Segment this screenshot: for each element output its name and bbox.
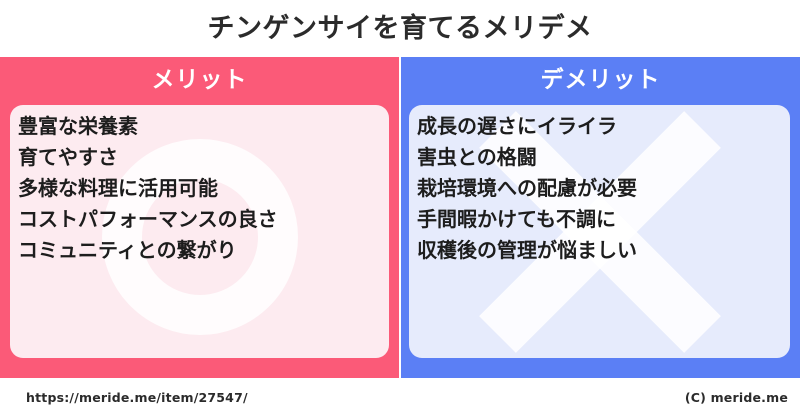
demerit-panel-header: デメリット — [401, 57, 800, 103]
list-item: 栽培環境への配慮が必要 — [417, 173, 782, 204]
source-url[interactable]: https://meride.me/item/27547/ — [26, 390, 248, 405]
merit-panel: メリット 豊富な栄養素 育てやすさ 多様な料理に活用可能 コストパフォーマンスの… — [0, 57, 399, 378]
merit-panel-header: メリット — [0, 57, 399, 103]
infographic-page: チンゲンサイを育てるメリデメ メリット 豊富な栄養素 育てやすさ 多様な料理に活… — [0, 0, 800, 418]
merit-header-label: メリット — [152, 69, 248, 92]
page-title-bar: チンゲンサイを育てるメリデメ — [0, 0, 800, 56]
list-item: 多様な料理に活用可能 — [18, 173, 383, 204]
merit-list: 豊富な栄養素 育てやすさ 多様な料理に活用可能 コストパフォーマンスの良さ コミ… — [18, 111, 383, 266]
demerit-card: 成長の遅さにイライラ 害虫との格闘 栽培環境への配慮が必要 手間暇かけても不調に… — [409, 105, 790, 358]
list-item: 成長の遅さにイライラ — [417, 111, 782, 142]
page-title: チンゲンサイを育てるメリデメ — [208, 15, 593, 42]
merit-card: 豊富な栄養素 育てやすさ 多様な料理に活用可能 コストパフォーマンスの良さ コミ… — [10, 105, 389, 358]
page-footer: https://meride.me/item/27547/ (C) meride… — [0, 378, 800, 418]
list-item: コストパフォーマンスの良さ — [18, 204, 383, 235]
list-item: 害虫との格闘 — [417, 142, 782, 173]
list-item: 育てやすさ — [18, 142, 383, 173]
list-item: 手間暇かけても不調に — [417, 204, 782, 235]
demerit-header-label: デメリット — [541, 69, 661, 92]
list-item: 豊富な栄養素 — [18, 111, 383, 142]
comparison-panels: メリット 豊富な栄養素 育てやすさ 多様な料理に活用可能 コストパフォーマンスの… — [0, 57, 800, 378]
list-item: 収穫後の管理が悩ましい — [417, 235, 782, 266]
list-item: コミュニティとの繋がり — [18, 235, 383, 266]
demerit-panel: デメリット 成長の遅さにイライラ 害虫との格闘 栽培環境への配慮が必要 手間暇か… — [401, 57, 800, 378]
copyright-label: (C) meride.me — [685, 390, 788, 405]
demerit-list: 成長の遅さにイライラ 害虫との格闘 栽培環境への配慮が必要 手間暇かけても不調に… — [417, 111, 782, 266]
